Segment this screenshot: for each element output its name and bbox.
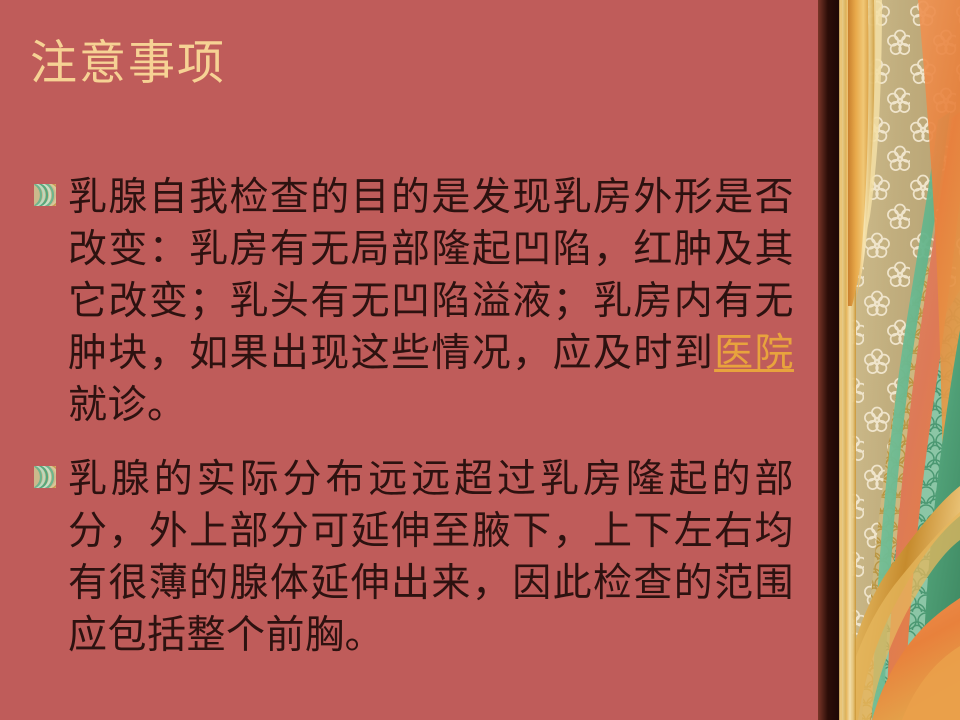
bullet-list: 乳腺自我检查的目的是发现乳房外形是否改变：乳房有无局部隆起凹陷，红肿及其它改变；…: [34, 172, 794, 662]
ornament-square-bullet-icon: [34, 466, 56, 488]
oriental-ribbon-border-decoration: [818, 0, 960, 720]
slide-title: 注意事项: [30, 36, 730, 92]
bullet-text: 乳腺的实际分布远远超过乳房隆起的部分，外上部分可延伸至腋下，上下左右均有很薄的腺…: [68, 454, 794, 662]
bullet-text: 乳腺自我检查的目的是发现乳房外形是否改变：乳房有无局部隆起凹陷，红肿及其它改变；…: [68, 172, 794, 432]
presentation-slide: 注意事项: [0, 0, 960, 720]
ornament-square-bullet-icon: [34, 184, 56, 206]
bullet-item: 乳腺自我检查的目的是发现乳房外形是否改变：乳房有无局部隆起凹陷，红肿及其它改变；…: [34, 172, 794, 432]
bullet-text-part: 乳腺自我检查的目的是发现乳房外形是否改变：乳房有无局部隆起凹陷，红肿及其它改变；…: [68, 176, 794, 375]
bullet-item: 乳腺的实际分布远远超过乳房隆起的部分，外上部分可延伸至腋下，上下左右均有很薄的腺…: [34, 454, 794, 662]
bullet-text-part: 就诊。: [68, 384, 187, 427]
hospital-hyperlink[interactable]: 医院: [714, 332, 794, 375]
